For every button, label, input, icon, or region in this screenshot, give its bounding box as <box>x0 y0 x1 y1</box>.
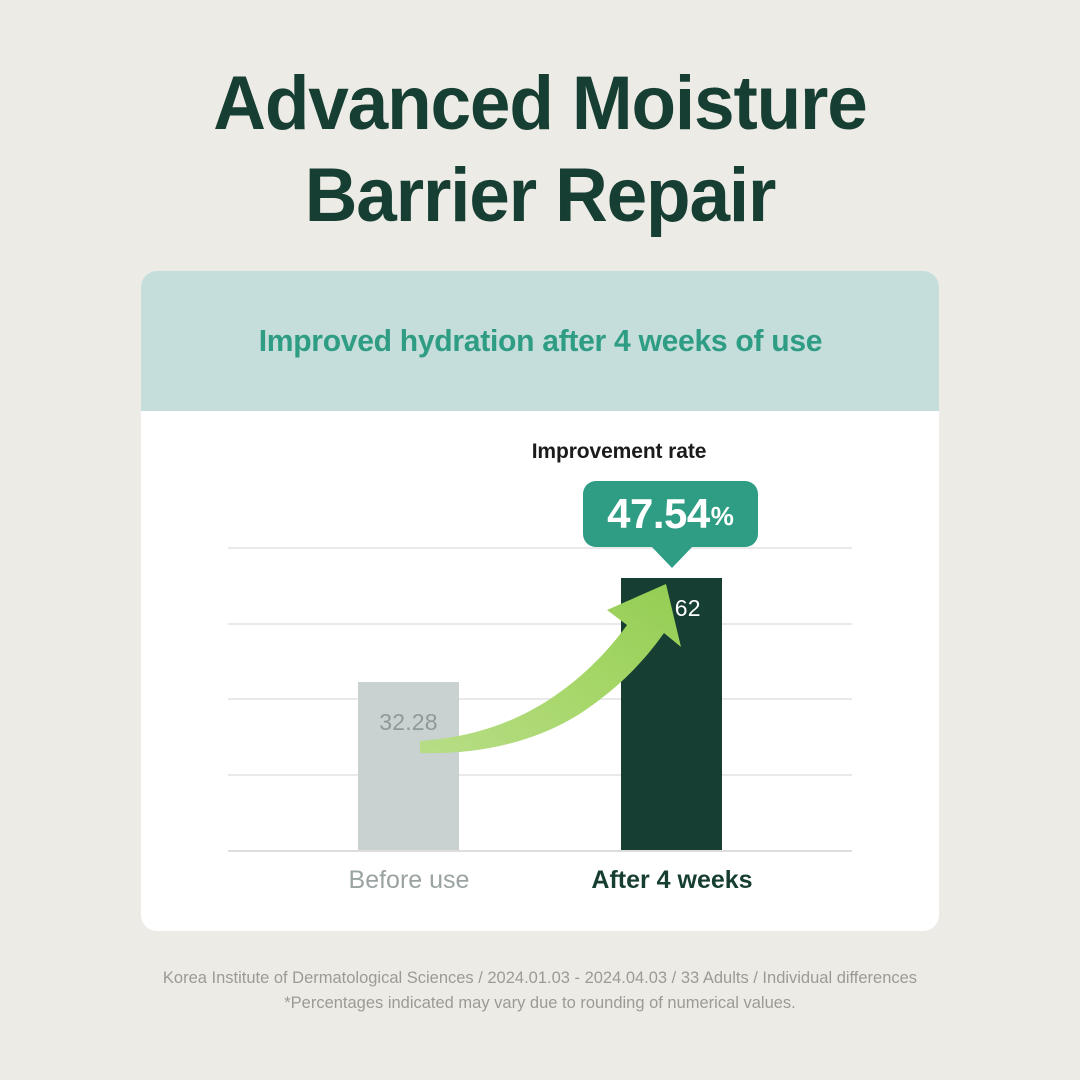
stat-card: Improved hydration after 4 weeks of use … <box>141 271 939 931</box>
bar-before-use[interactable] <box>358 682 459 850</box>
bar-value-after-4-weeks: 47.62 <box>621 595 722 622</box>
improvement-rate-value: 47.54 <box>607 493 710 535</box>
card-header-band: Improved hydration after 4 weeks of use <box>141 271 939 411</box>
x-axis-label-after-4-weeks: After 4 weeks <box>562 866 782 895</box>
card-header-title: Improved hydration after 4 weeks of use <box>258 323 821 359</box>
bar-chart: 32.28 47.62 Improvement rate 47.54 % <box>141 411 939 931</box>
footnote-source: Korea Institute of Dermatological Scienc… <box>16 965 1064 990</box>
page-title-line-1: Advanced Moisture <box>22 58 1059 150</box>
improvement-rate-label: Improvement rate <box>529 440 709 464</box>
chart-plot-area: 32.28 47.62 <box>141 411 939 931</box>
improvement-rate-unit: % <box>711 503 734 529</box>
page-title: Advanced Moisture Barrier Repair <box>22 58 1059 242</box>
infographic-root: Advanced Moisture Barrier Repair Improve… <box>0 0 1080 1080</box>
bubble-pointer-icon <box>651 546 693 568</box>
x-axis-label-before-use: Before use <box>299 866 519 895</box>
footnote: Korea Institute of Dermatological Scienc… <box>16 965 1064 1015</box>
footnote-disclaimer: *Percentages indicated may vary due to r… <box>16 990 1064 1015</box>
page-title-line-2: Barrier Repair <box>22 150 1059 242</box>
bar-value-before-use: 32.28 <box>358 709 459 736</box>
improvement-rate-bubble[interactable]: 47.54 % <box>583 481 758 547</box>
